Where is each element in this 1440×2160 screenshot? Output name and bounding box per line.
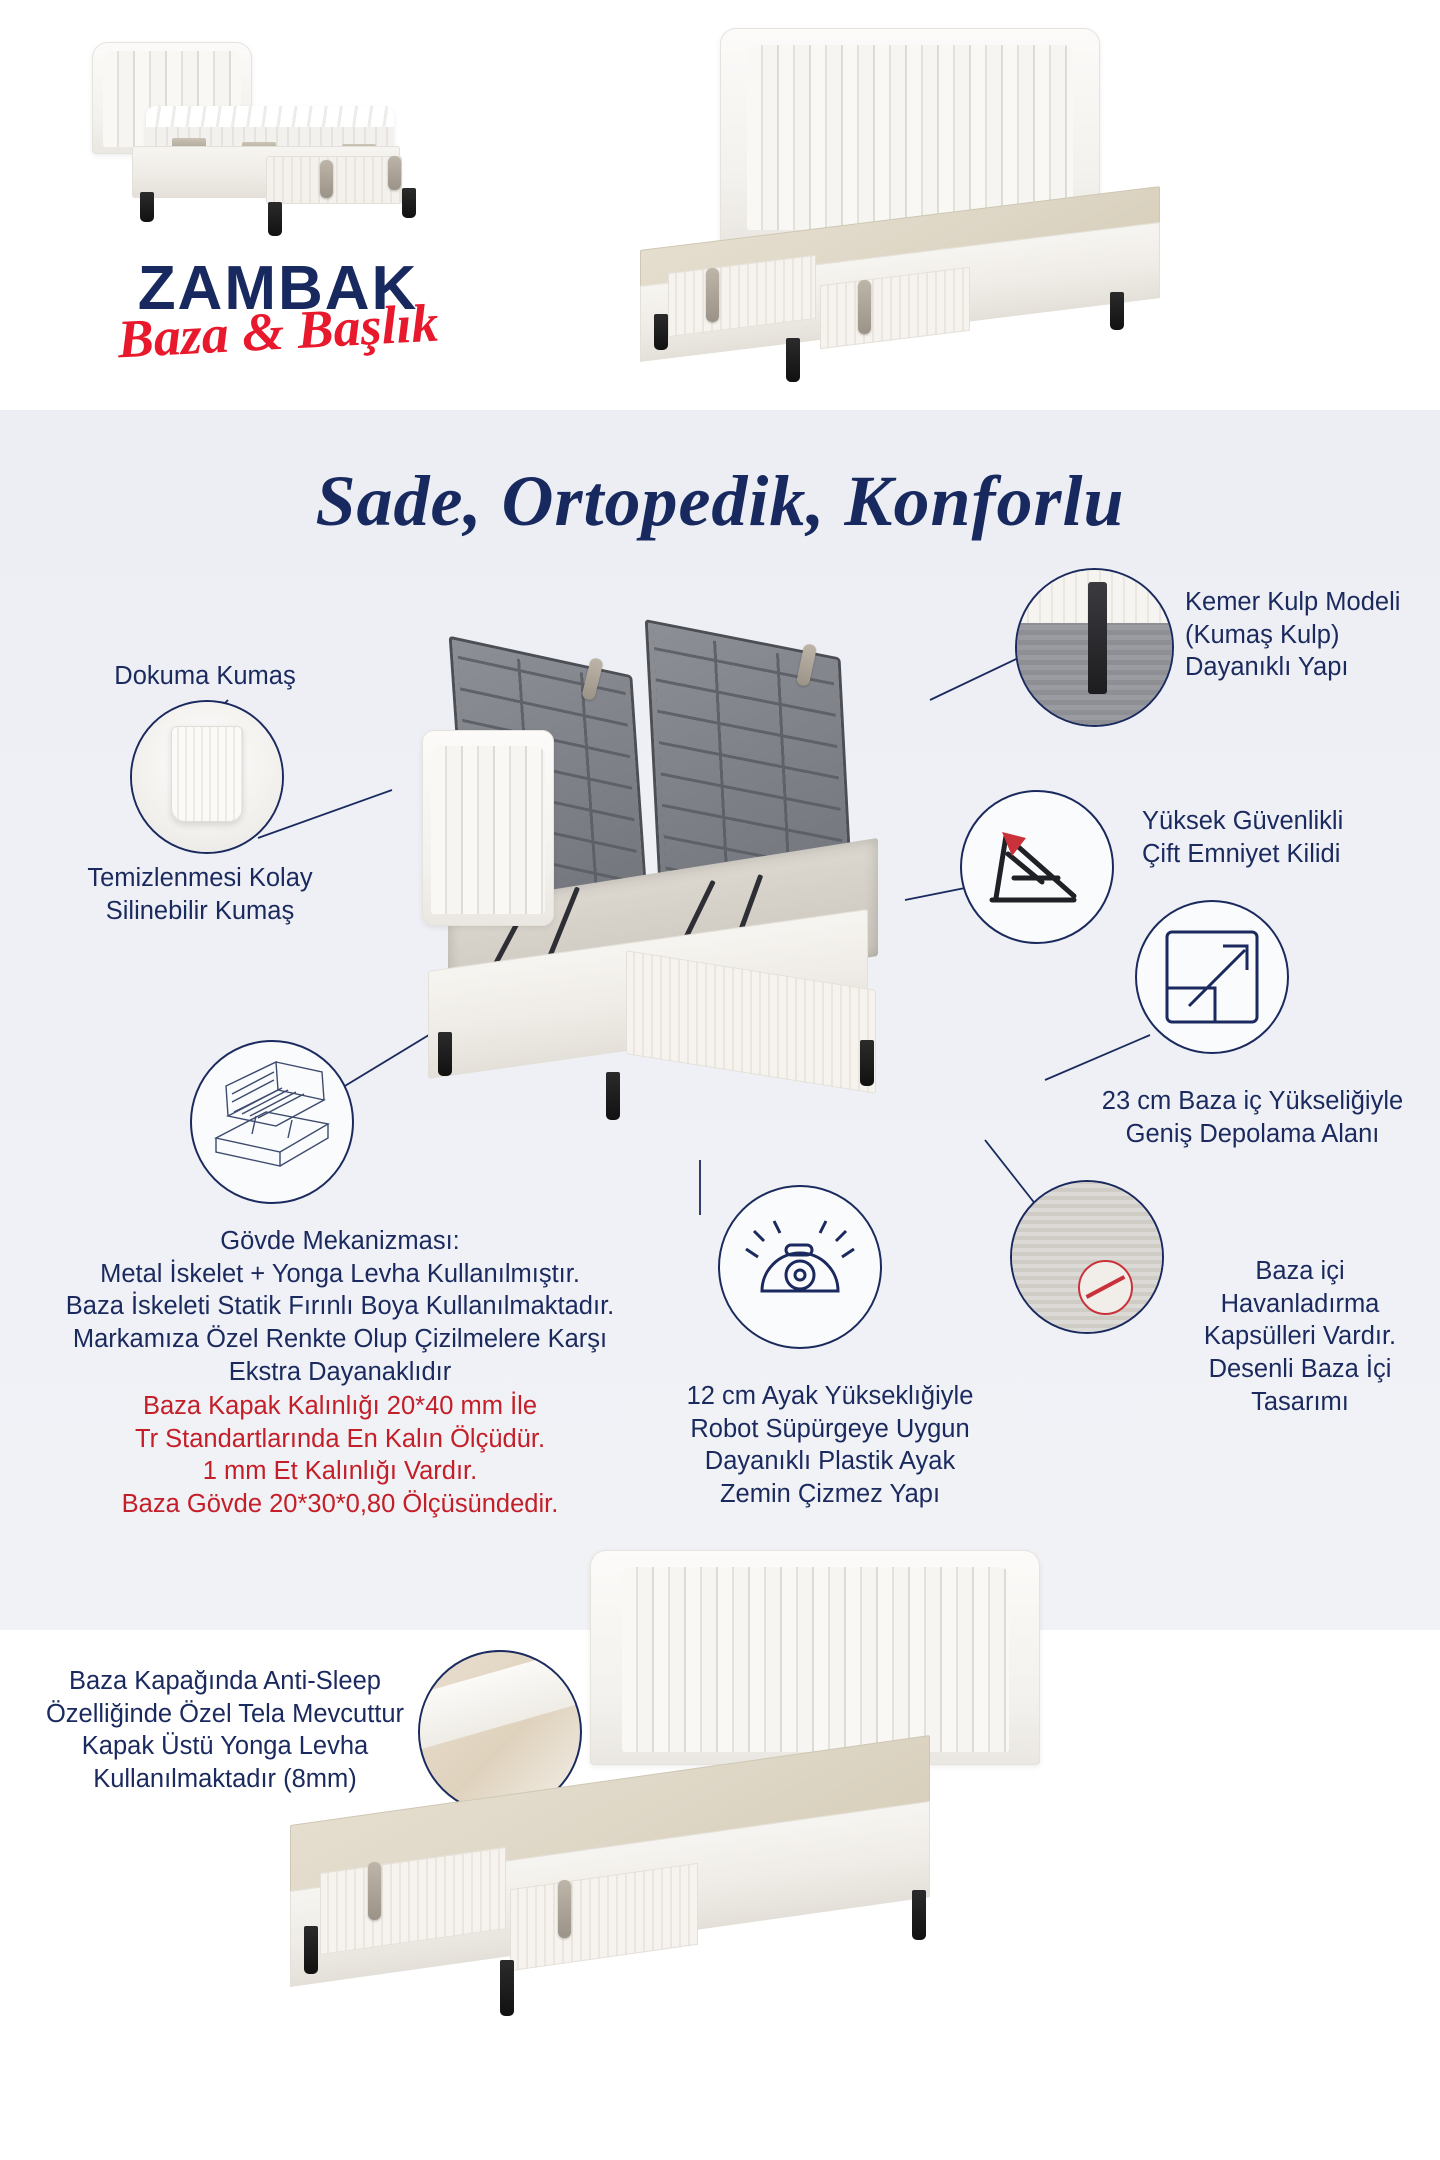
body-mechanism-line-3: Ekstra Dayanaklıdır: [20, 1356, 660, 1389]
body-mechanism-block: Gövde Mekanizması: Metal İskelet + Yonga…: [20, 1225, 660, 1388]
fabric-swatch-icon: [130, 700, 284, 854]
callout-wipeable-fabric-label: Temizlenmesi Kolay Silinebilir Kumaş: [30, 862, 370, 927]
open-storage-bed-icon: [190, 1040, 354, 1204]
hero-mattress-bed-image: [70, 20, 460, 270]
callout-woven-fabric-label: Dokuma Kumaş: [40, 660, 370, 693]
callout-ventilation-label: Baza içi Havanladırma Kapsülleri Vardır.…: [1175, 1255, 1425, 1418]
specs-red-line-3: Baza Gövde 20*30*0,80 Ölçüsündedir.: [20, 1488, 660, 1521]
infographic-page: ZAMBAK Baza & Başlık Sade, Ortopedik, Ko…: [0, 0, 1440, 2160]
storage-arrow-icon: [1135, 900, 1289, 1054]
callout-anti-sleep-label: Baza Kapağında Anti-Sleep Özelliğinde Öz…: [10, 1665, 440, 1796]
callout-leg-height-label: 12 cm Ayak Yükseklığiyle Robot Süpürgeye…: [655, 1380, 1005, 1511]
body-mechanism-line-1: Baza İskeleti Statik Fırınlı Boya Kullan…: [20, 1290, 660, 1323]
brand-logo: ZAMBAK Baza & Başlık: [58, 258, 498, 358]
specs-red-line-2: 1 mm Et Kalınlığı Vardır.: [20, 1455, 660, 1488]
body-mechanism-title: Gövde Mekanizması:: [20, 1225, 660, 1258]
callout-storage-height-label: 23 cm Baza iç Yükseliğiyle Geniş Depolam…: [1070, 1085, 1435, 1150]
body-mechanism-line-2: Markamıza Özel Renkte Olup Çizilmelere K…: [20, 1323, 660, 1356]
callout-safety-lock-label: Yüksek Güvenlikli Çift Emniyet Kilidi: [1142, 805, 1432, 870]
specs-red-line-1: Tr Standartlarında En Kalın Ölçüdür.: [20, 1423, 660, 1456]
belt-handle-icon: [1015, 568, 1174, 727]
ventilation-capsule-icon: [1010, 1180, 1164, 1334]
specs-red-line-0: Baza Kapak Kalınlığı 20*40 mm İle: [20, 1390, 660, 1423]
headline: Sade, Ortopedik, Konforlu: [0, 460, 1440, 543]
double-safety-lock-icon: [960, 790, 1114, 944]
hero-base-headboard-image: [620, 18, 1360, 388]
specs-red-block: Baza Kapak Kalınlığı 20*40 mm İle Tr Sta…: [20, 1390, 660, 1521]
callout-belt-handle-label: Kemer Kulp Modeli (Kumaş Kulp) Dayanıklı…: [1185, 586, 1435, 684]
robot-vacuum-icon: [718, 1185, 882, 1349]
body-mechanism-line-0: Metal İskelet + Yonga Levha Kullanılmışt…: [20, 1258, 660, 1291]
open-storage-bed-image: [390, 640, 1060, 1180]
bottom-base-headboard-image: [200, 1540, 1140, 2120]
